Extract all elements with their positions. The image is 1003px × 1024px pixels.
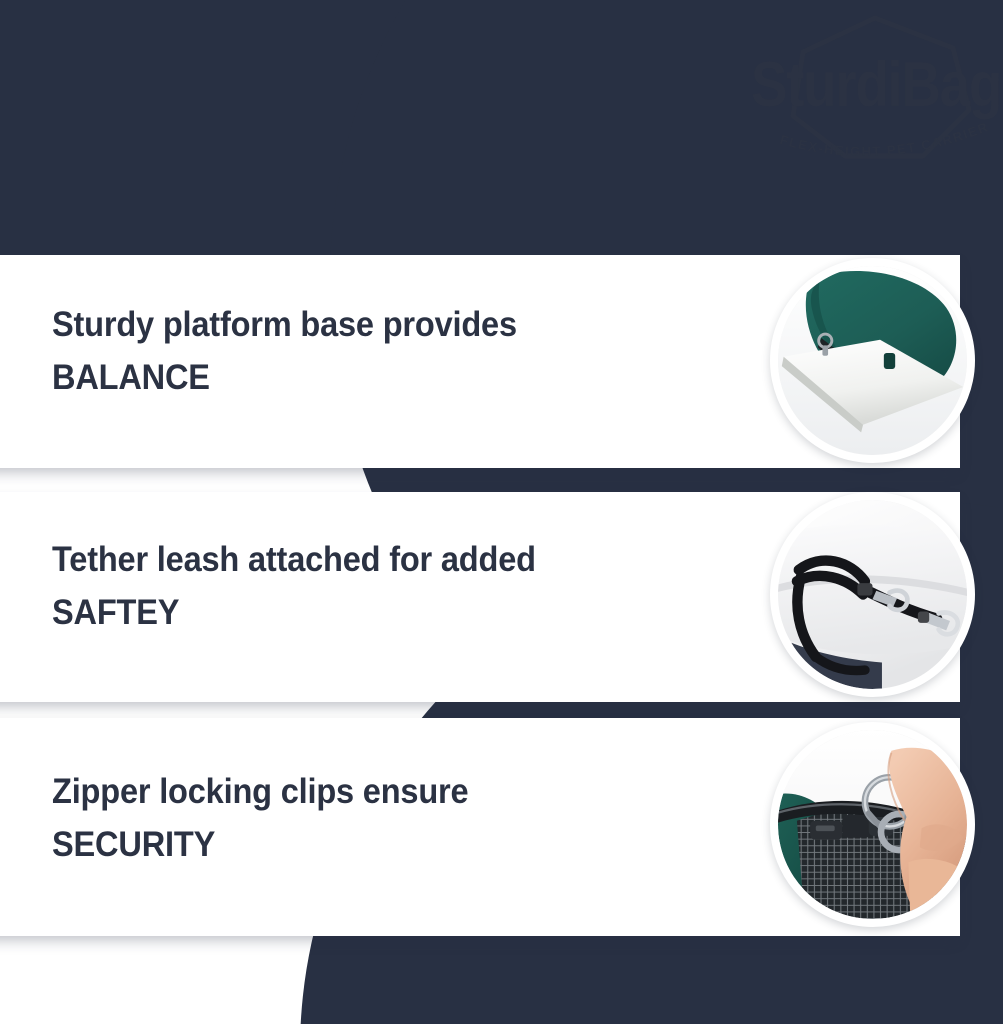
infographic-canvas: SturdiBag FLEX-HEIGHT PET CARRIER Sturdy…: [0, 0, 1003, 1024]
feature-headline-saftey: Tether leash attached for added SAFTEY: [52, 534, 629, 639]
zipper-locking-clips-photo: [770, 722, 975, 927]
platform-base-photo: [770, 258, 975, 463]
feature-keyword-text: SECURITY: [52, 825, 215, 864]
feature-lead-text: Tether leash attached for added: [52, 540, 536, 579]
feature-headline-security: Zipper locking clips ensure SECURITY: [52, 766, 629, 871]
feature-headline-balance: Sturdy platform base provides BALANCE: [52, 299, 629, 404]
tether-leash-photo: [770, 492, 975, 697]
feature-keyword-text: BALANCE: [52, 358, 210, 397]
feature-lead-text: Zipper locking clips ensure: [52, 772, 468, 811]
feature-keyword-text: SAFTEY: [52, 593, 179, 632]
feature-lead-text: Sturdy platform base provides: [52, 305, 517, 344]
